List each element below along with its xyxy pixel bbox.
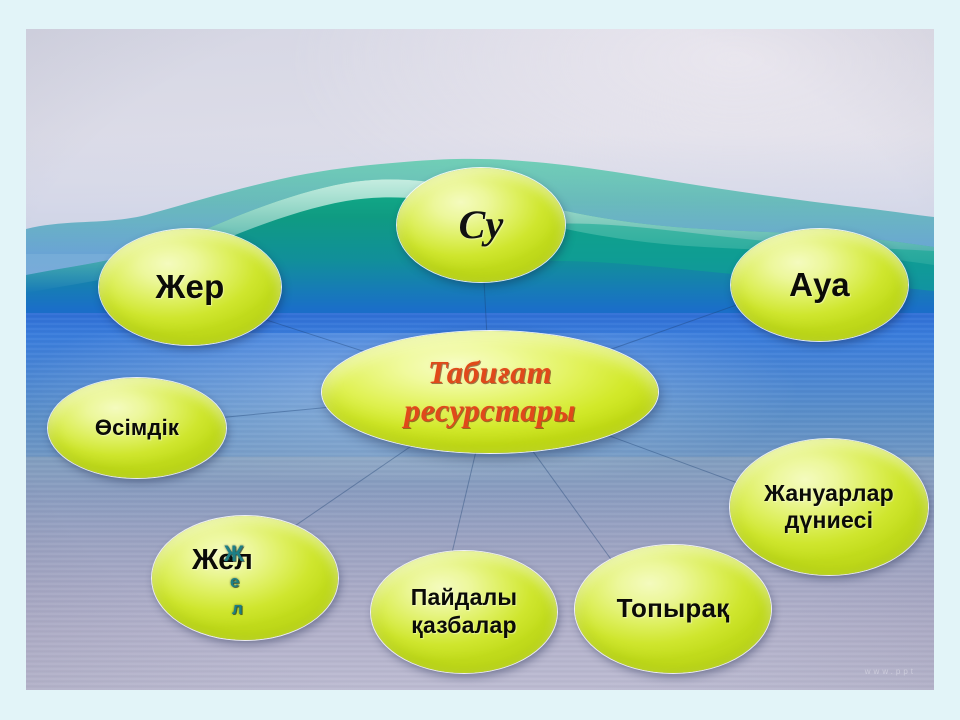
node-zhanuarlar-line2: дүниесі: [785, 507, 874, 533]
node-su[interactable]: Су: [397, 168, 565, 282]
node-zhel[interactable]: Жел Ж е л: [152, 516, 338, 640]
node-osimdik-label: Өсімдік: [89, 416, 185, 439]
node-zhel-animating-text: Жел Ж е л: [152, 516, 338, 640]
node-paidaly-line1: Пайдалы: [411, 584, 518, 610]
node-zhanuarlar-line1: Жануарлар: [764, 480, 894, 506]
central-node-tabigat-resurstary[interactable]: Табиғат ресурстары: [322, 331, 658, 453]
node-zher[interactable]: Жер: [99, 229, 281, 345]
watermark-text: www.ppt: [865, 667, 916, 676]
node-zhel-flying-letter-1: Ж: [224, 541, 244, 567]
node-aua-label: Ауа: [783, 268, 856, 303]
node-topyraq[interactable]: Топырақ: [575, 545, 771, 673]
node-aua[interactable]: Ауа: [731, 229, 908, 341]
node-su-label: Су: [453, 204, 510, 246]
central-node-label: Табиғат ресурстары: [404, 354, 576, 430]
node-paidaly-qazbalar[interactable]: Пайдалы қазбалар: [371, 551, 557, 673]
node-osimdik[interactable]: Өсімдік: [48, 378, 226, 478]
node-paidaly-line2: қазбалар: [411, 612, 517, 638]
node-zhel-flying-letter-2: е: [230, 572, 239, 592]
node-paidaly-qazbalar-label: Пайдалы қазбалар: [405, 584, 524, 639]
slide-frame: Табиғат ресурстары Су Жер Ауа Өсімдік Жа…: [0, 0, 960, 720]
node-zhel-flying-letter-3: л: [232, 599, 243, 619]
node-zhanuarlar-duniesi[interactable]: Жануарлар дүниесі: [730, 439, 928, 575]
node-topyraq-label: Топырақ: [611, 595, 736, 622]
node-zher-label: Жер: [150, 270, 231, 305]
node-zhanuarlar-duniesi-label: Жануарлар дүниесі: [758, 480, 900, 534]
presentation-slide: Табиғат ресурстары Су Жер Ауа Өсімдік Жа…: [26, 29, 934, 690]
